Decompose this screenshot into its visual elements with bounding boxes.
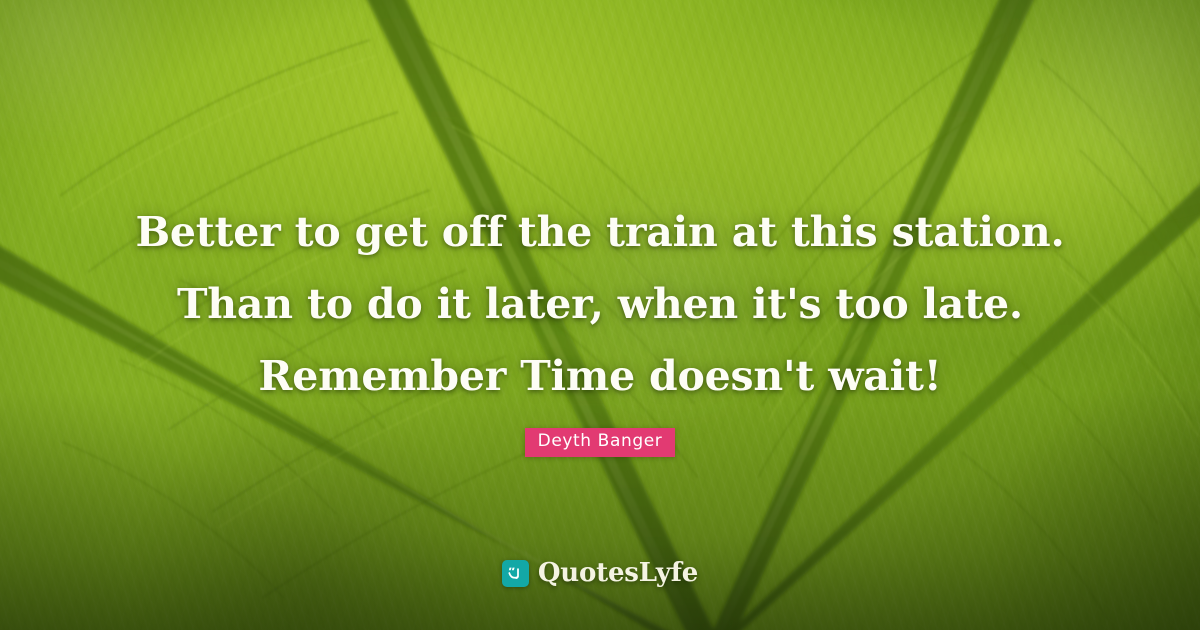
brand-wordmark: QuotesLyfe bbox=[538, 558, 698, 588]
quoteslyfe-smiley-icon bbox=[502, 560, 529, 587]
quote-line-1: Better to get off the train at this stat… bbox=[60, 196, 1140, 268]
brand-logo[interactable]: QuotesLyfe bbox=[0, 558, 1200, 588]
author-attribution: Deyth Banger bbox=[0, 428, 1200, 457]
quote-text-block: Better to get off the train at this stat… bbox=[0, 196, 1200, 412]
author-name-chip[interactable]: Deyth Banger bbox=[525, 428, 676, 457]
quote-card: Better to get off the train at this stat… bbox=[0, 0, 1200, 630]
quote-line-2: Than to do it later, when it's too late. bbox=[60, 268, 1140, 340]
quote-line-3: Remember Time doesn't wait! bbox=[60, 340, 1140, 412]
